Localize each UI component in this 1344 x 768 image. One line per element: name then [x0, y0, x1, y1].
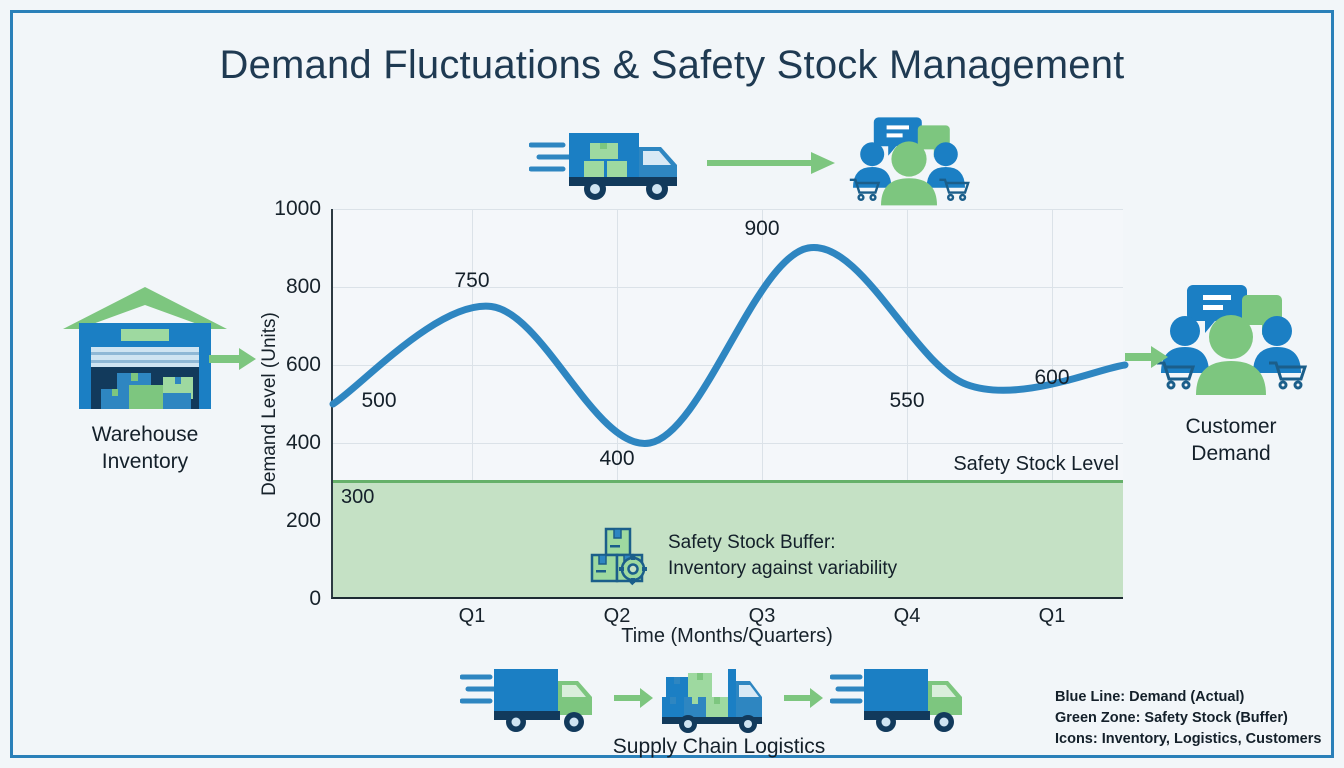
customers-block: Customer Demand — [1141, 281, 1321, 468]
y-tick-label: 1000 — [274, 197, 321, 221]
page-title: Demand Fluctuations & Safety Stock Manag… — [13, 43, 1331, 88]
x-axis-title: Time (Months/Quarters) — [331, 625, 1123, 648]
y-tick-label: 400 — [286, 431, 321, 455]
top-flow-group — [529, 113, 973, 213]
flow-arrow-icon — [707, 148, 837, 178]
data-label: 750 — [454, 269, 489, 293]
data-label: 600 — [1034, 366, 1069, 390]
y-tick-label: 600 — [286, 353, 321, 377]
legend-line: Icons: Inventory, Logistics, Customers — [1055, 729, 1321, 750]
flow-arrow-icon — [614, 686, 654, 710]
safety-stock-level-label: Safety Stock Level — [953, 453, 1119, 476]
figure-frame: Demand Fluctuations & Safety Stock Manag… — [10, 10, 1334, 758]
y-tick-label: 200 — [286, 509, 321, 533]
flow-arrow-icon — [784, 686, 824, 710]
warehouse-block: Warehouse Inventory — [55, 281, 235, 476]
delivery-truck-icon — [460, 663, 608, 733]
loaded-truck-icon — [660, 663, 778, 733]
y-tick-label: 800 — [286, 275, 321, 299]
customer-group-icon — [845, 113, 973, 213]
flow-arrow-icon — [209, 345, 257, 373]
buffer-annotation: Safety Stock Buffer: Inventory against v… — [588, 525, 897, 587]
warehouse-caption: Warehouse Inventory — [55, 422, 235, 476]
customer-group-icon — [1151, 281, 1311, 403]
y-axis-title: Demand Level (Units) — [257, 209, 283, 599]
logistics-block: Supply Chain Logistics — [459, 663, 979, 759]
data-label: 400 — [599, 447, 634, 471]
boxes-gear-icon — [588, 525, 650, 587]
data-label: 900 — [744, 217, 779, 241]
customers-caption: Customer Demand — [1141, 414, 1321, 468]
logistics-truck-row — [459, 663, 979, 733]
safety-stock-value-label: 300 — [341, 486, 374, 509]
y-tick-label: 0 — [309, 587, 321, 611]
data-label: 500 — [361, 389, 396, 413]
warehouse-icon — [59, 281, 231, 411]
chart-plot-area: 0 200 400 600 800 1000 Q1 Q2 Q3 Q4 Q1 50… — [331, 209, 1123, 599]
buffer-annotation-text: Safety Stock Buffer: Inventory against v… — [668, 530, 897, 581]
delivery-truck-icon — [830, 663, 978, 733]
legend-line: Blue Line: Demand (Actual) — [1055, 687, 1321, 708]
legend-line: Green Zone: Safety Stock (Buffer) — [1055, 708, 1321, 729]
logistics-caption: Supply Chain Logistics — [459, 735, 979, 759]
data-label: 550 — [889, 389, 924, 413]
flow-arrow-icon — [1125, 343, 1169, 371]
delivery-truck-icon — [529, 125, 699, 201]
legend: Blue Line: Demand (Actual) Green Zone: S… — [1055, 687, 1321, 750]
